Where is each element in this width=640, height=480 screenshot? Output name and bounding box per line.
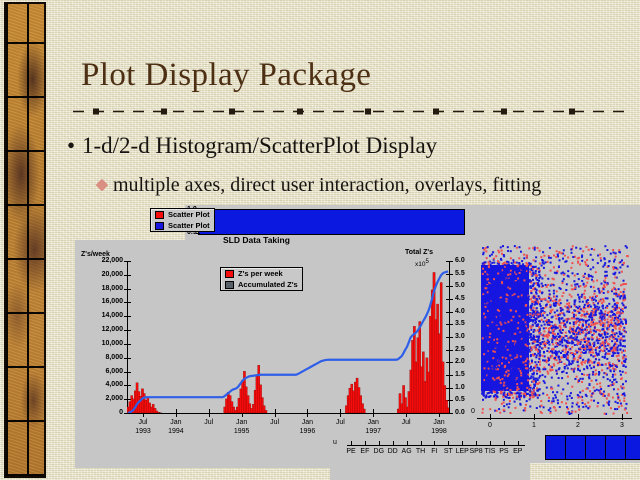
- decorative-sidebar: [4, 2, 46, 478]
- title-divider: [73, 108, 626, 115]
- scatter-xtick-label: 1: [523, 422, 545, 429]
- histogram-y2tick: [446, 261, 453, 262]
- scatter-legend: Scatter Plot Scatter Plot: [150, 208, 215, 232]
- histogram-plot-area[interactable]: [127, 265, 449, 413]
- diamond-bullet-icon: [96, 179, 109, 192]
- top-strip-tick-2: [196, 233, 200, 234]
- histogram-y2tick-label: 5.5: [455, 270, 465, 277]
- histogram-ytick-label: 0: [83, 409, 123, 416]
- histogram-ytick-label: 6,000: [83, 368, 123, 375]
- scatter-point-area[interactable]: [479, 243, 629, 415]
- bullet-item-1-label: 1-d/2-d Histogram/ScatterPlot Display: [82, 133, 437, 158]
- histogram-ytick-label: 8,000: [83, 354, 123, 361]
- histogram-y2tick-label: 0.0: [455, 409, 465, 416]
- secondary-xtick: [351, 441, 352, 446]
- scatter-xtick: [578, 414, 579, 420]
- scatter-plot[interactable]: 0 0123: [465, 205, 640, 463]
- secondary-xtick: [448, 441, 449, 446]
- histogram-ytick: [124, 261, 131, 262]
- histogram-y2tick-label: 1.5: [455, 371, 465, 378]
- histogram-y2tick-label: 4.5: [455, 295, 465, 302]
- histogram-ytick-label: 10,000: [83, 340, 123, 347]
- histogram-y2tick: [446, 413, 453, 414]
- histogram-y2label: Total Z's: [405, 249, 433, 256]
- legend-swatch-scatter-red: [155, 211, 164, 219]
- scatter-legend-label-1: Scatter Plot: [168, 221, 210, 230]
- histogram-y2tick-label: 3.0: [455, 333, 465, 340]
- histogram-y2tick-label: 4.0: [455, 308, 465, 315]
- round-bullet-icon: •: [60, 133, 82, 159]
- top-blue-bar: [198, 209, 465, 235]
- plot-display-screenshot[interactable]: 1.0 0.9 SLD Data Taking Z's/week Total Z…: [75, 205, 640, 480]
- histogram-y2tick-label: 1.0: [455, 384, 465, 391]
- scatter-xaxis: [477, 418, 632, 419]
- secondary-xaxis-label: u: [333, 439, 337, 446]
- histogram-ytick-label: 22,000: [83, 257, 123, 264]
- histogram-xtick-year: 1996: [291, 428, 323, 435]
- secondary-xtick: [421, 441, 422, 446]
- histogram-ytick-label: 16,000: [83, 298, 123, 305]
- histogram-y2tick-label: 0.5: [455, 396, 465, 403]
- histogram-ytick-label: 4,000: [83, 381, 123, 388]
- histogram-xtick-year: 1995: [226, 428, 258, 435]
- histogram-y2tick-label: 3.5: [455, 320, 465, 327]
- histogram-xtick-label: Jul: [195, 419, 223, 426]
- histogram-xtick-label: Jul: [129, 419, 157, 426]
- scatter-xtick-label: 3: [611, 422, 633, 429]
- scatter-xtick-label: 0: [479, 422, 501, 429]
- histogram-title: SLD Data Taking: [223, 235, 290, 245]
- histogram-ytick-label: 12,000: [83, 326, 123, 333]
- bullet-item-2: multiple axes, direct user interaction, …: [96, 172, 616, 198]
- histogram-xtick-year: 1998: [423, 428, 455, 435]
- scatter-legend-item-1: Scatter Plot: [151, 220, 214, 231]
- scatter-origin-label: 0: [471, 408, 475, 415]
- bullet-item-2-label: multiple axes, direct user interaction, …: [113, 174, 541, 196]
- histogram-xtick-year: 1997: [357, 428, 389, 435]
- secondary-xtick: [365, 441, 366, 446]
- histogram-y2tick-label: 2.5: [455, 346, 465, 353]
- histogram-ytick-label: 2,000: [83, 395, 123, 402]
- scatter-legend-item-0: Scatter Plot: [151, 209, 214, 220]
- bullet-item-1: •1-d/2-d Histogram/ScatterPlot Display: [60, 133, 620, 159]
- scatter-xtick: [534, 414, 535, 420]
- histogram-xtick-label: Jan: [228, 419, 256, 426]
- scatter-xtick: [622, 414, 623, 420]
- histogram-xtick-label: Jan: [359, 419, 387, 426]
- histogram-xtick-label: Jan: [162, 419, 190, 426]
- histogram-xtick-label: Jan: [425, 419, 453, 426]
- bottom-blue-bar: [545, 435, 640, 460]
- histogram-xtick-label: Jul: [392, 419, 420, 426]
- histogram-xtick-year: 1994: [160, 428, 192, 435]
- page-title: Plot Display Package: [81, 57, 371, 94]
- histogram-ytick-label: 18,000: [83, 285, 123, 292]
- histogram-ytick-label: 14,000: [83, 312, 123, 319]
- histogram-xtick-label: Jan: [293, 419, 321, 426]
- histogram-y2tick-label: 5.0: [455, 282, 465, 289]
- histogram-xtick-label: Jul: [326, 419, 354, 426]
- histogram-y2tick-label: 6.0: [455, 257, 465, 264]
- secondary-xtick: [407, 441, 408, 446]
- legend-swatch-scatter-blue: [155, 222, 164, 230]
- scatter-xtick-label: 2: [567, 422, 589, 429]
- histogram-xtick-label: Jul: [261, 419, 289, 426]
- histogram-xtick-year: 1993: [127, 428, 159, 435]
- secondary-xtick: [434, 441, 435, 446]
- scatter-xtick: [490, 414, 491, 420]
- secondary-xtick: [379, 441, 380, 446]
- histogram-y2tick-label: 2.0: [455, 358, 465, 365]
- histogram-ytick: [124, 413, 131, 414]
- secondary-xtick: [393, 441, 394, 446]
- histogram-ytick-label: 20,000: [83, 271, 123, 278]
- scatter-legend-label-0: Scatter Plot: [168, 210, 210, 219]
- secondary-xtick: [462, 441, 463, 446]
